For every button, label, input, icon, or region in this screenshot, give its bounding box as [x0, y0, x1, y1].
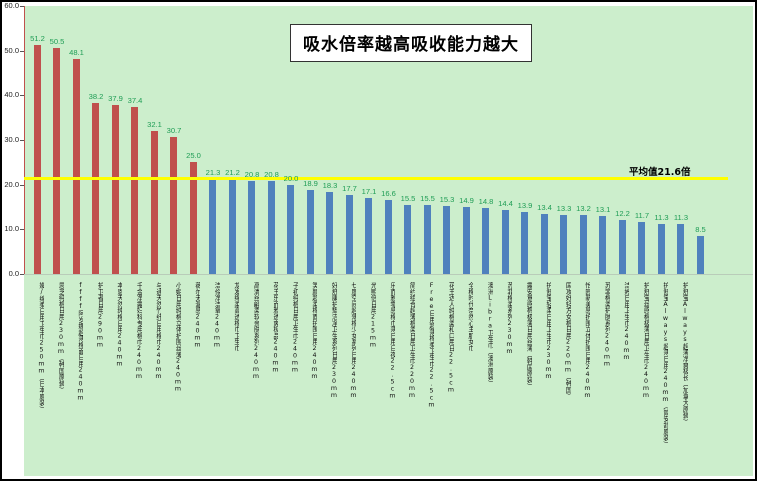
x-axis-label: 护卫者日用290mm — [90, 282, 103, 349]
y-tick-label: 10.0 — [2, 225, 19, 233]
average-line — [24, 177, 728, 180]
bar[interactable] — [34, 45, 41, 274]
x-axis-label: 洁伶净洁氧240mm — [207, 282, 220, 349]
bar[interactable] — [248, 181, 255, 274]
bar[interactable] — [424, 205, 431, 274]
bar[interactable] — [170, 137, 177, 274]
y-tick-label: 0.0 — [2, 270, 19, 278]
bar-group[interactable]: 21.3洁伶净洁氧240mm — [204, 6, 223, 274]
bar-group[interactable]: 50.5思芝纯棉日用230mm（韩国原装） — [48, 6, 67, 274]
bar-group[interactable]: 25.0薇尔无漏感240mm — [184, 6, 203, 274]
chart-frame: 0.010.020.030.040.050.060.0 51.2嫚/绵柔日用卫生… — [0, 0, 757, 481]
x-axis-label: 护舒宝Always超薄净爽极长（加拿大原装） — [675, 282, 688, 425]
x-axis-label: 嫚/绵柔日用卫生巾250mm（日本原装） — [31, 282, 44, 412]
page-title: 吸水倍率越高吸收能力越大 — [303, 30, 519, 55]
x-axis-label: 七度空间超薄棉少女系列日用240mm — [343, 282, 356, 399]
bar-group[interactable]: 13.4护舒宝轻柔日用卫生巾230mm — [535, 6, 554, 274]
y-tick-mark — [20, 6, 24, 7]
average-line-label: 平均值21.6倍 — [629, 164, 690, 178]
bar[interactable] — [677, 224, 684, 274]
bar[interactable] — [112, 105, 119, 274]
y-tick-label: 20.0 — [2, 181, 19, 189]
y-tick-label: 30.0 — [2, 136, 19, 144]
x-axis-label: 简约组合超薄棉柔日用卫生巾220mm — [402, 282, 415, 399]
bar[interactable] — [268, 181, 275, 274]
y-axis — [24, 6, 25, 274]
x-axis-label: 护舒宝丝感棉极薄日用卫生巾240mm — [636, 282, 649, 399]
bar-value-label: 30.7 — [159, 126, 189, 135]
bar[interactable] — [619, 220, 626, 274]
bar-group[interactable]: 20.8高清丝翩柔软亲肤系列240mm — [243, 6, 262, 274]
bar[interactable] — [131, 107, 138, 274]
y-tick-mark — [20, 140, 24, 141]
bar[interactable] — [385, 200, 392, 274]
bar[interactable] — [151, 131, 158, 274]
bar-value-label: 8.5 — [686, 225, 716, 234]
bar-group[interactable]: 12.2洁婷日用卫生巾240mm — [613, 6, 632, 274]
bar[interactable] — [599, 216, 606, 275]
x-axis-label: 护舒宝Always超薄日用240mm（简安舒原装） — [655, 282, 668, 447]
y-tick-label: 40.0 — [2, 91, 19, 99]
bar-group[interactable]: 13.1苏菲棉柔护肤系列240mm — [594, 6, 613, 274]
x-axis-label: 护舒宝轻柔日用卫生巾230mm — [538, 282, 551, 380]
x-axis-label: 薇尔无漏感240mm — [187, 282, 200, 349]
x-axis-label: 露安意感棉极薄日用丝薄（韩国原装） — [519, 282, 532, 389]
bar-group[interactable]: 37.9本恩天然纯棉日用240mm — [106, 6, 125, 274]
bar[interactable] — [638, 222, 645, 274]
chart-title-box: 吸水倍率越高吸收能力越大 — [290, 24, 532, 62]
bar[interactable] — [541, 214, 548, 274]
bar[interactable] — [658, 224, 665, 274]
bar-group[interactable]: 11.3护舒宝Always超薄日用240mm（简安舒原装） — [652, 6, 671, 274]
bar-group[interactable]: 37.4千金净露妇科专用棉巾240mm — [126, 6, 145, 274]
x-axis-label: 思芝纯棉日用230mm（韩国原装） — [51, 282, 64, 393]
bar[interactable] — [697, 236, 704, 274]
bar[interactable] — [209, 179, 216, 274]
bar[interactable] — [365, 198, 372, 274]
bar[interactable] — [502, 210, 509, 274]
x-axis-label: 怡园新美感护围立体护围日用240mm — [577, 282, 590, 399]
x-axis-label: 苏菲棉柔系列230mm — [499, 282, 512, 355]
x-axis-label: 小妮日用纯棉立体护围丝薄240mm — [168, 282, 181, 393]
bar-group[interactable]: 13.2怡园新美感护围立体护围日用240mm — [574, 6, 593, 274]
bar-value-label: 25.0 — [179, 151, 209, 160]
bar-value-label: 11.3 — [666, 213, 696, 222]
bar[interactable] — [307, 190, 314, 274]
x-axis-label: 洁婷日用卫生巾240mm — [616, 282, 629, 361]
y-tick-mark — [20, 51, 24, 52]
y-tick-mark — [20, 185, 24, 186]
bar[interactable] — [521, 212, 528, 274]
bar-value-label: 48.1 — [62, 48, 92, 57]
x-axis-label: 龙发绵柔高透棉巾卫生巾 — [226, 282, 239, 351]
x-axis-label: ffff阿岁娜超薄棉面日用240mm — [70, 282, 83, 402]
bar[interactable] — [443, 206, 450, 274]
bar[interactable] — [287, 185, 294, 274]
x-axis-label: 花王达人纯棉柔和口用日22.5cm — [441, 282, 454, 393]
bar-group[interactable]: 32.1与通天然竹纤日用棉巾240mm — [145, 6, 164, 274]
bar-group[interactable]: 21.2龙发绵柔高透棉巾卫生巾 — [223, 6, 242, 274]
y-tick-mark — [20, 274, 24, 275]
x-axis-label: 与通天然竹纤日用棉巾240mm — [148, 282, 161, 380]
x-axis-label: 子初纯棉日用卫生巾240mm — [285, 282, 298, 374]
x-axis-label: 高清丝翩柔软亲肤系列240mm — [246, 282, 259, 380]
x-axis-label: Free日用超薄棉柔卫生巾22.5cm — [421, 282, 434, 409]
x-axis — [24, 274, 753, 275]
x-axis-label: 好舒康护垫洁净卫生系列日用230mm — [324, 282, 337, 399]
x-axis-label: 苏菲棉柔护肤系列240mm — [597, 282, 610, 367]
bar[interactable] — [73, 59, 80, 274]
bar[interactable] — [482, 208, 489, 274]
bar-group[interactable]: 11.7护舒宝丝感棉极薄日用卫生巾240mm — [633, 6, 652, 274]
bar-group[interactable]: 8.5 — [691, 6, 710, 274]
bar-group[interactable]: 38.2护卫者日用290mm — [87, 6, 106, 274]
y-tick-mark — [20, 95, 24, 96]
y-tick-label: 60.0 — [2, 2, 19, 10]
x-axis-label: 澳洲Libra卫生巾（澳洲原装） — [480, 282, 493, 386]
bar-group[interactable]: 13.3国攻好轻方女棉日用220mm（韩国） — [555, 6, 574, 274]
x-axis-label: 千金净露妇科专用棉巾240mm — [129, 282, 142, 380]
x-axis-label: 光熙倍日用215mm — [363, 282, 376, 349]
x-axis-label: 国攻好轻方女棉日用220mm（韩国） — [558, 282, 571, 399]
bar[interactable] — [463, 207, 470, 274]
x-axis-label: 花王乐而雅透爽极品240mm — [265, 282, 278, 374]
bar-value-label: 50.5 — [42, 37, 72, 46]
y-tick-mark — [20, 229, 24, 230]
x-axis-label: 笑颜超柔棉面护围日用240mm — [304, 282, 317, 380]
x-axis-label: 全棉时代奈然心主肌女巾 — [460, 282, 473, 351]
x-axis-label: 本恩天然纯棉日用240mm — [109, 282, 122, 367]
bar[interactable] — [326, 192, 333, 274]
bar[interactable] — [404, 205, 411, 274]
bar[interactable] — [580, 215, 587, 274]
bar[interactable] — [92, 103, 99, 274]
y-tick-label: 50.0 — [2, 47, 19, 55]
bar[interactable] — [229, 179, 236, 274]
bar-group[interactable]: 20.8花王乐而雅透爽极品240mm — [262, 6, 281, 274]
bar[interactable] — [53, 48, 60, 274]
bar[interactable] — [560, 215, 567, 274]
bar-group[interactable]: 30.7小妮日用纯棉立体护围丝薄240mm — [165, 6, 184, 274]
bar-value-label: 37.4 — [120, 96, 150, 105]
bar[interactable] — [346, 195, 353, 274]
x-axis-label: 乐而雅零感棉巾薄日用日夜22.5cm — [382, 282, 395, 400]
